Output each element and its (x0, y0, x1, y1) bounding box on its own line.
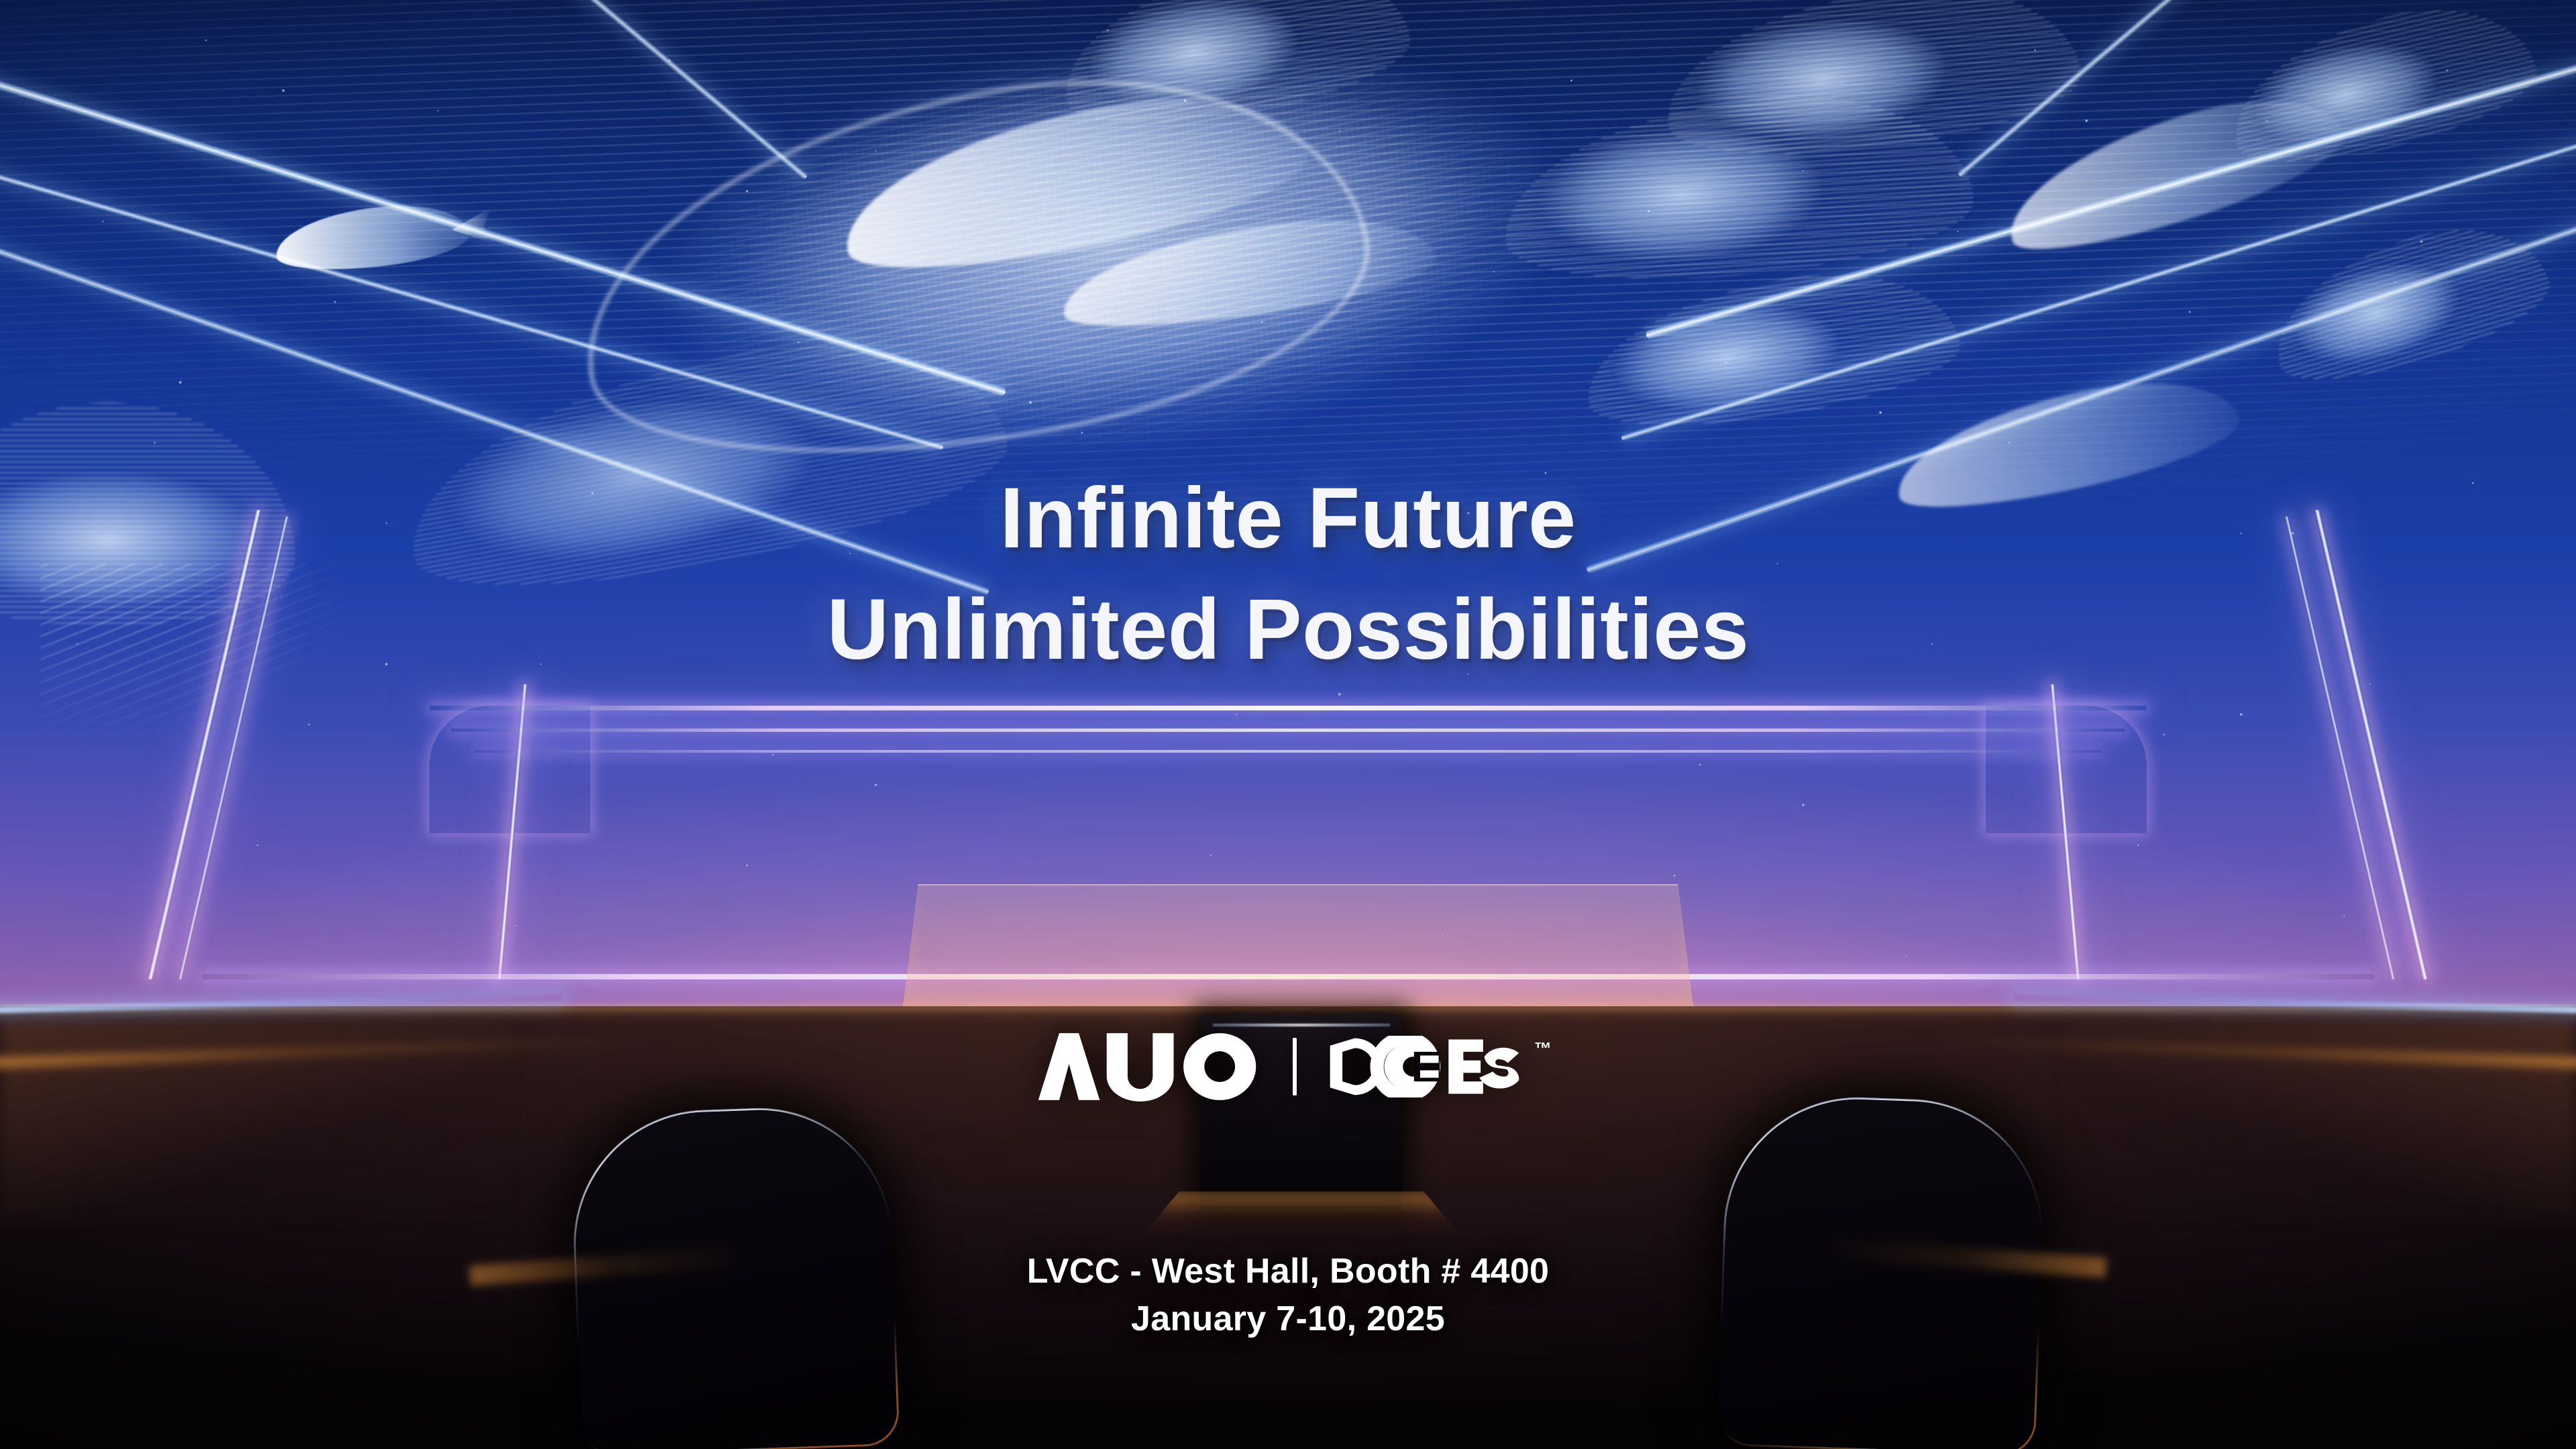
headline-line-2: Unlimited Possibilities (0, 574, 2576, 686)
page-title: Infinite Future Unlimited Possibilities (0, 463, 2576, 686)
auo-logo (1024, 1032, 1262, 1102)
logo-divider (1293, 1038, 1297, 1095)
ces-logo: ™ (1328, 1036, 1552, 1097)
trademark-symbol: ™ (1534, 1040, 1552, 1057)
auo-wordmark-icon (1024, 1032, 1262, 1102)
venue-line: LVCC - West Hall, Booth # 4400 (1027, 1252, 1550, 1291)
headline-line-1: Infinite Future (1000, 470, 1576, 566)
event-details: LVCC - West Hall, Booth # 4400 January 7… (0, 1248, 2576, 1342)
console-ambient-glow (1140, 1191, 1462, 1238)
ces-wordmark-icon (1328, 1036, 1525, 1097)
windshield-glass-panel (902, 884, 1694, 1012)
ces-key-visual-poster: Infinite Future Unlimited Possibilities (0, 0, 2576, 1449)
date-line: January 7-10, 2025 (0, 1295, 2576, 1343)
logo-lockup: ™ (0, 1032, 2576, 1102)
